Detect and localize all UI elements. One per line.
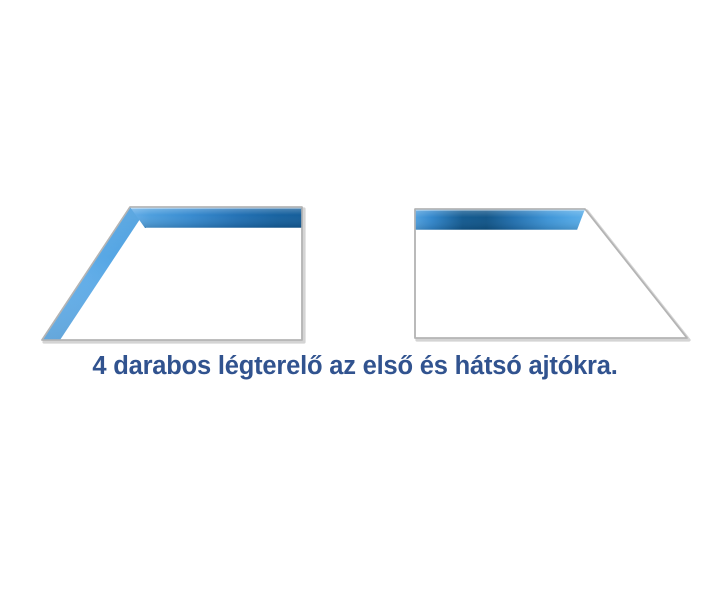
illustration-canvas: 4 darabos légterelő az első és hátsó ajt…	[0, 0, 710, 613]
right-deflector-top-band-shading	[415, 209, 585, 230]
caption-text: 4 darabos légterelő az első és hátsó ajt…	[0, 352, 710, 381]
left-deflector	[42, 207, 304, 342]
right-deflector	[415, 209, 689, 340]
wind-deflector-pair-illustration	[0, 0, 710, 360]
left-deflector-top-band-shading	[130, 207, 302, 228]
